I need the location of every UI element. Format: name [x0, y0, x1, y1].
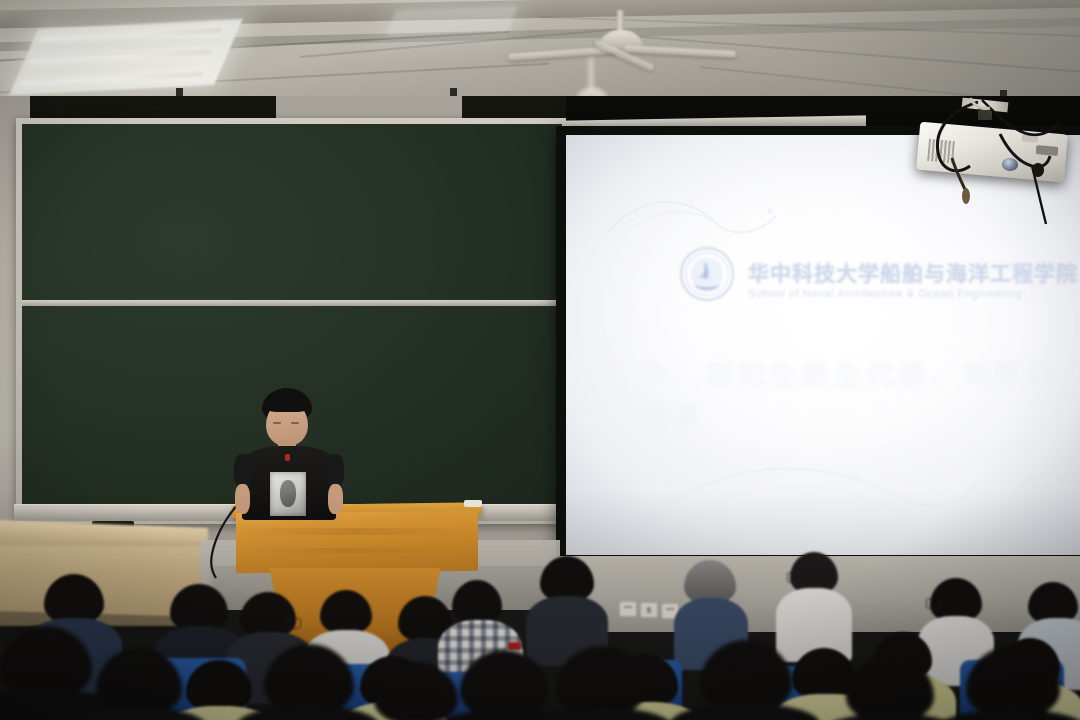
tshirt-graphic-print: [270, 472, 306, 516]
podium-paper: [464, 500, 482, 507]
lecture-hall-photo: 华中科技大学船舶与海洋工程学院 School of Naval Architec…: [0, 0, 1080, 720]
university-seal-logo: [680, 247, 734, 301]
attendee-glasses: [787, 572, 801, 583]
blackboard-panel-divider: [22, 300, 562, 306]
fluorescent-ceiling-light: [9, 19, 243, 95]
speaker-lanyard: [285, 454, 290, 461]
slide-org-name-en: School of Naval Architecture & Ocean Eng…: [748, 288, 1023, 300]
student-speaker: [238, 388, 358, 518]
blackboard-upper-panel: [462, 96, 566, 118]
attendee-glasses: [926, 598, 940, 609]
wall-power-socket[interactable]: [640, 602, 658, 618]
slide-org-name-cn: 华中科技大学船舶与海洋工程学院: [748, 258, 1078, 288]
slide-agenda-title: 六、研究生新生代表、刘同学发言: [642, 354, 1080, 432]
fluorescent-ceiling-light: [386, 6, 517, 36]
wall-power-socket[interactable]: [619, 601, 637, 617]
attendee-glasses: [286, 618, 301, 629]
projector-cables: [912, 96, 1080, 226]
bottle-cap: [508, 642, 521, 650]
